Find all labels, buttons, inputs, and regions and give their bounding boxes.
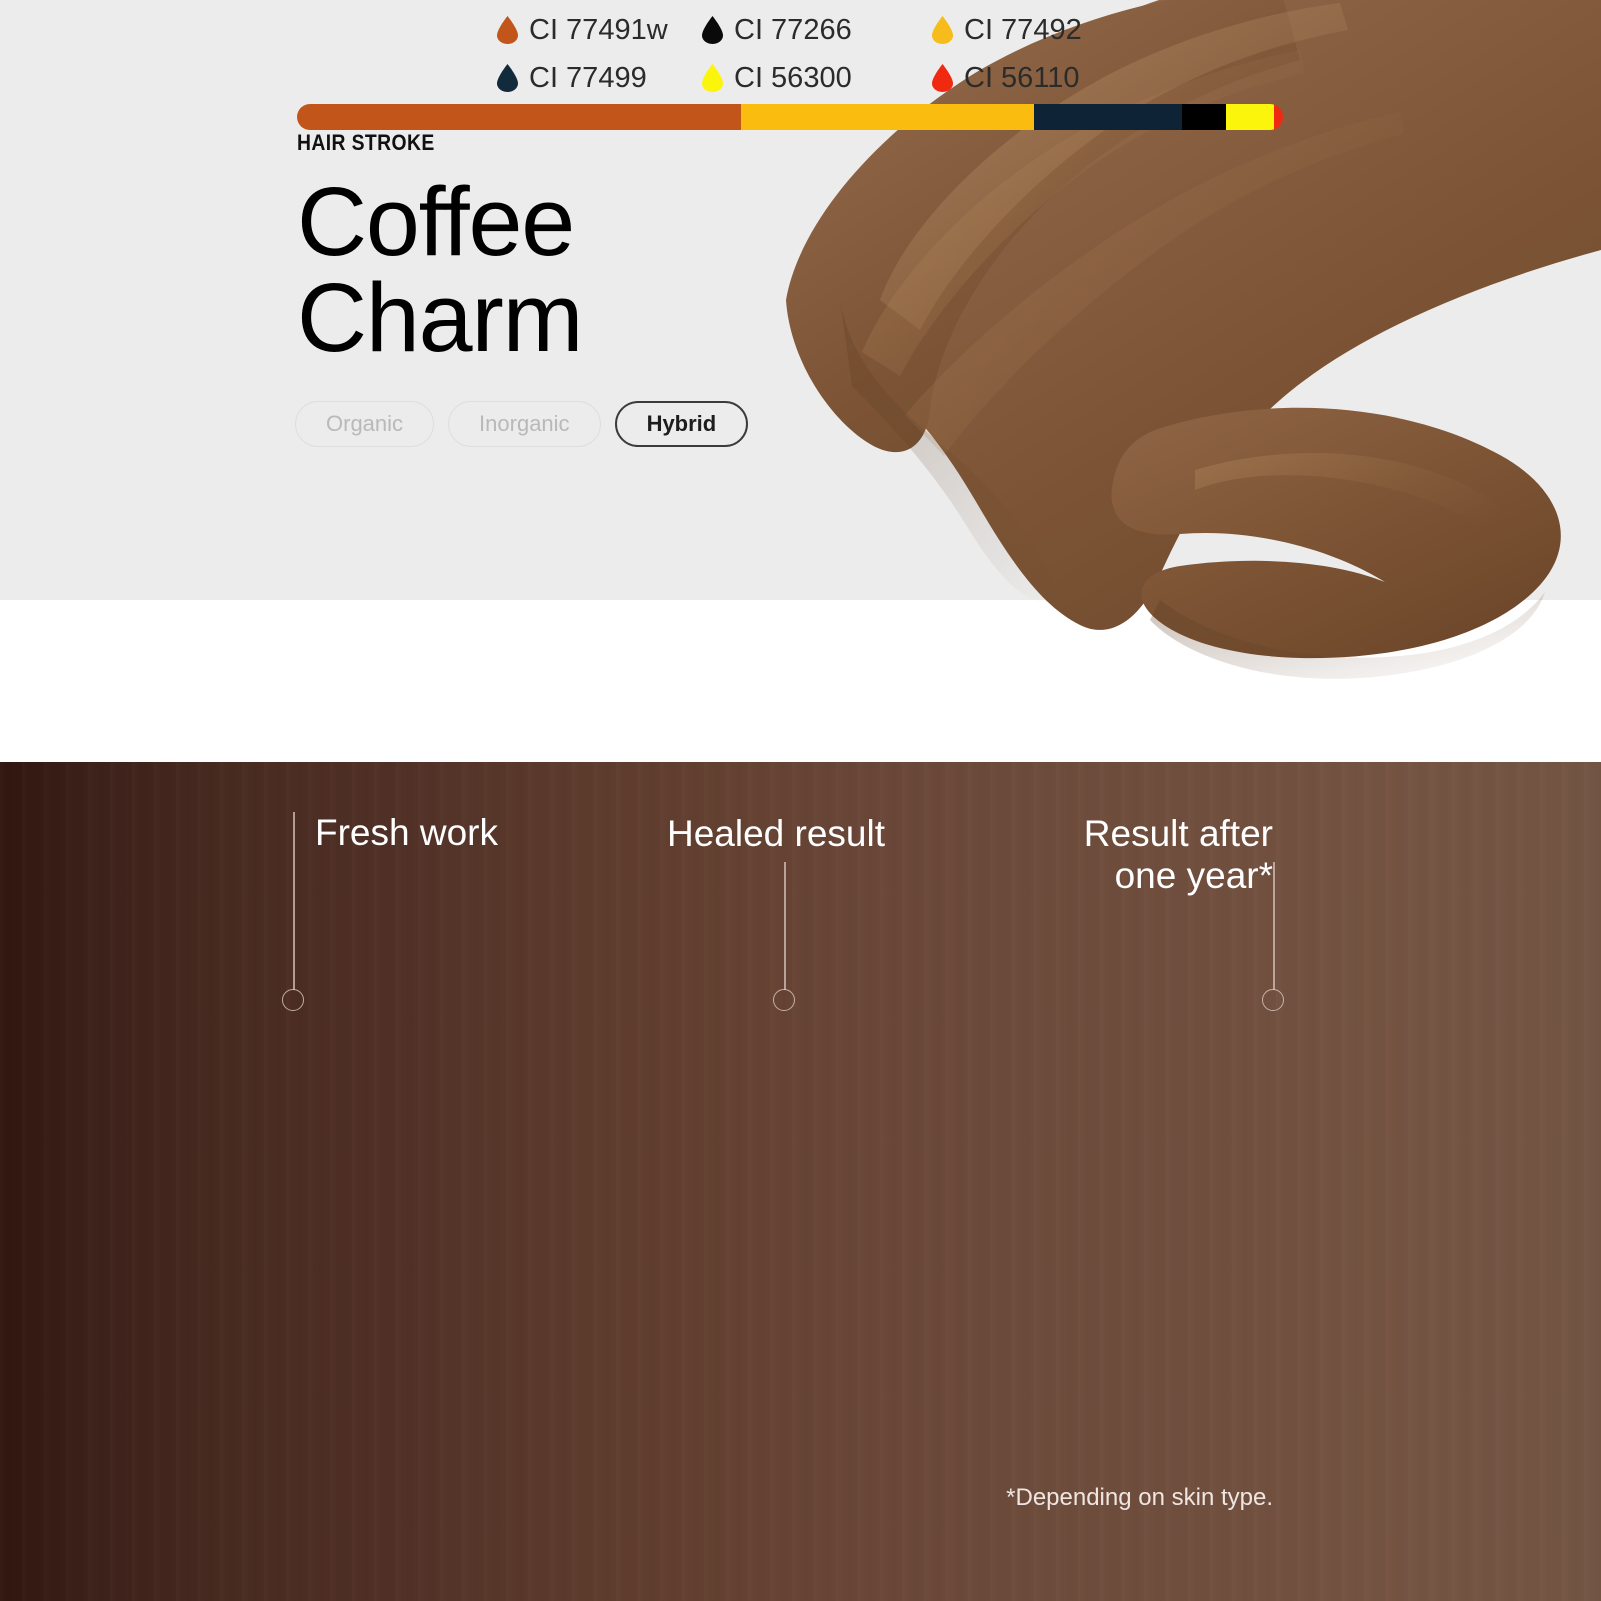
result-gradient-strip (0, 762, 1601, 1601)
timeline-marker-3[interactable] (1262, 989, 1284, 1011)
result-label-fresh-work: Fresh work (315, 812, 498, 854)
droplet-icon (702, 16, 723, 44)
pigment-code: CI 56110 (964, 62, 1080, 95)
page-eyebrow: HAIR STROKE (297, 130, 548, 156)
pigment-code: CI 56300 (734, 62, 852, 95)
pigment-item: CI 77266 (702, 9, 932, 51)
ratio-segment-4 (1182, 104, 1225, 130)
product-shade-card: HAIR STROKE Coffee Charm Organic Inorgan… (0, 0, 1601, 1601)
result-label-one-year: Result after one year* (1084, 813, 1273, 897)
ratio-segment-5 (1226, 104, 1274, 130)
ratio-segment-2 (741, 104, 1034, 130)
pigment-type-filter: Organic Inorganic Hybrid (295, 401, 748, 447)
pigment-code: CI 77491w (529, 14, 668, 47)
droplet-icon (497, 16, 518, 44)
pill-organic[interactable]: Organic (295, 401, 434, 447)
pigment-list: CI 77491w CI 77266 CI 77492 CI 77499 CI … (497, 9, 1082, 99)
droplet-icon (932, 16, 953, 44)
page-title-line-1: Coffee (297, 174, 582, 270)
pigment-ratio-bar (297, 104, 1283, 130)
pigment-code: CI 77266 (734, 14, 852, 47)
droplet-icon (702, 64, 723, 92)
page-title: Coffee Charm (297, 174, 582, 366)
strip-texture-overlay (0, 762, 1601, 1601)
timeline-marker-1[interactable] (282, 989, 304, 1011)
timeline-connector-3 (1273, 862, 1275, 990)
pigment-code: CI 77499 (529, 62, 647, 95)
timeline-connector-1 (293, 812, 295, 990)
pigment-item: CI 77499 (497, 57, 702, 99)
timeline-connector-2 (784, 862, 786, 990)
droplet-icon (932, 64, 953, 92)
result-label-healed: Healed result (667, 813, 885, 855)
ratio-segment-3 (1034, 104, 1183, 130)
pigment-item: CI 56300 (702, 57, 932, 99)
droplet-icon (497, 64, 518, 92)
ratio-segment-1 (297, 104, 741, 130)
pigment-composition-band (0, 600, 1601, 762)
pill-hybrid[interactable]: Hybrid (615, 401, 749, 447)
header-text-block: HAIR STROKE Coffee Charm (297, 130, 582, 366)
pigment-item: CI 56110 (932, 57, 1082, 99)
timeline-marker-2[interactable] (773, 989, 795, 1011)
pill-inorganic[interactable]: Inorganic (448, 401, 601, 447)
footnote-text: *Depending on skin type. (1006, 1484, 1273, 1512)
pigment-code: CI 77492 (964, 14, 1082, 47)
pigment-item: CI 77491w (497, 9, 702, 51)
pigment-item: CI 77492 (932, 9, 1082, 51)
page-title-line-2: Charm (297, 270, 582, 366)
